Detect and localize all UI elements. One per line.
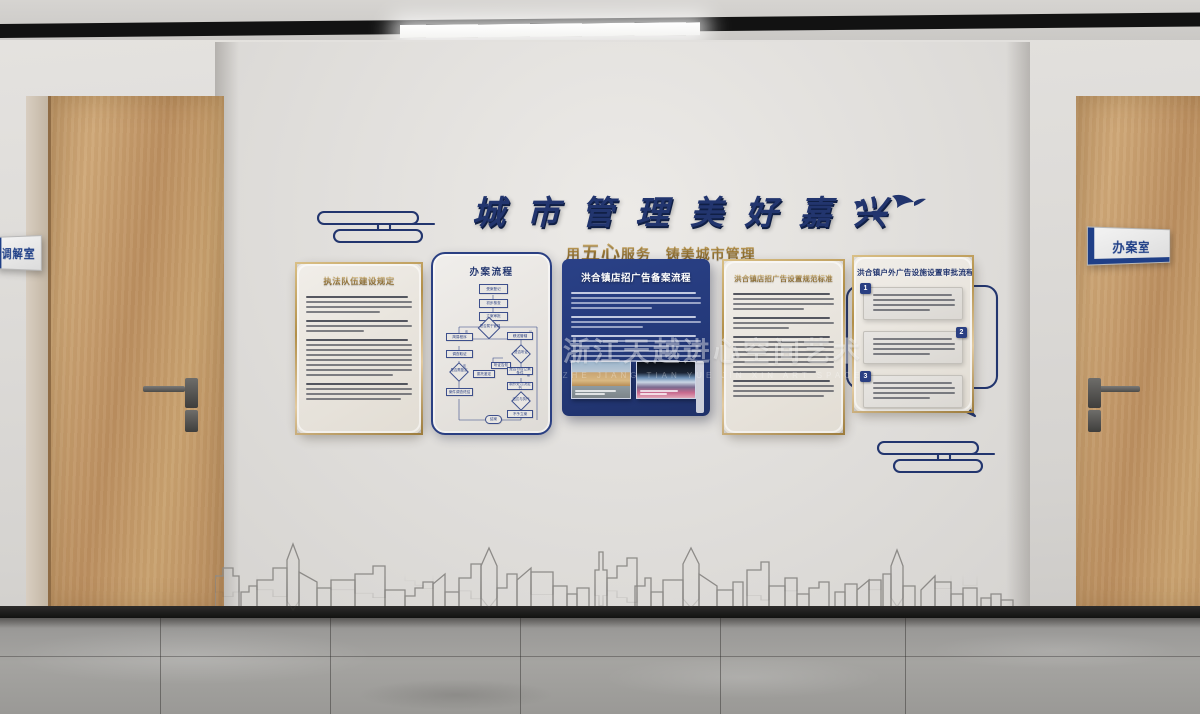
approval-item-1-number: 1 [860,283,871,294]
door-lock-plate-right[interactable] [1088,378,1101,408]
approval-item-2-card [863,331,963,364]
room-scene: 调解室 办案室 城 市 管 理 美 好 嘉 兴 用五心服务 铸美城市管理 [0,0,1200,714]
panel-ad-filing-photo-group [571,361,696,399]
panel-regulations-title: 执法队伍建设规定 [303,275,415,287]
panel-ad-standards-para-2 [733,317,834,329]
sign-accent-bar-left [0,238,1,269]
flow-label: 送达与执行 [505,398,537,401]
panel-ad-filing-para-3 [571,335,701,362]
floor-skyline-reflection [215,574,1030,618]
cloud-motif-left-icon [316,198,440,248]
panel-ad-standards-body [724,293,843,397]
wall-shadow-right [1006,42,1030,610]
flow-node-decision-doc: 制作处罚决定书 [507,382,533,390]
approval-item-3-number: 3 [860,371,871,382]
room-sign-right: 办案室 [1087,226,1170,265]
flow-label: 结案归档 [476,367,480,384]
room-sign-left: 调解室 [0,235,42,271]
panel-case-flow[interactable]: 办案流程 [431,252,552,435]
flow-node-verify: 初步核查 [479,299,508,308]
cloud-motif-right-icon [876,428,1000,478]
door-lock-plate-left[interactable] [185,378,198,408]
photo-storefront-caption [575,390,627,396]
flow-node-simple: 简易程序 [446,333,473,341]
panel-ad-filing[interactable]: 洪合镇店招广告备案流程 [562,259,710,416]
flow-node-end: 结案 [485,415,502,424]
room-sign-right-label: 办案室 [1112,236,1150,256]
flow-node-approve: 立案审批 [479,312,508,321]
panel-ad-filing-para-1 [571,292,701,309]
photo-night-street-caption [640,390,692,396]
flow-label: 结案 [490,417,497,421]
approval-item-1-card [863,287,963,320]
flow-node-conclude: 案件调查终结 [446,388,473,396]
door-jamb-left [26,96,48,610]
flow-label: 初步核查 [486,301,500,305]
panel-ad-filing-title: 洪合镇店招广告备案流程 [566,270,706,284]
panel-regulations-para-3 [306,339,412,376]
panel-ad-standards-para-1 [733,293,834,310]
flow-node-intake: 受案登记 [479,284,508,294]
flow-label: 是否符合立案条件 [508,367,532,375]
door-right[interactable] [1076,96,1200,610]
flow-node-evidence: 调查取证 [446,350,473,358]
panel-ad-filing-para-2 [571,316,701,328]
panel-ad-filing-body [562,292,710,362]
panel-ad-approval[interactable]: 洪合镇户外广告设施设置审批流程 1 2 3 [852,255,974,413]
door-handle-left[interactable] [143,386,185,392]
panel-ad-standards-title: 洪合镇店招广告设置规范标准 [729,273,838,284]
flying-birds-icon [848,190,926,241]
approval-item-3-card [863,375,963,408]
panel-regulations-para-4 [306,383,412,400]
door-keyhole-right[interactable] [1088,410,1101,432]
flow-label: 简易程序 [452,335,466,339]
flow-label: 制作处罚决定书 [508,382,532,390]
flow-node-no-filing: 不予立案 [507,410,533,418]
photo-storefront-building[interactable] [571,361,631,399]
floor [0,618,1200,714]
floor-marble-texture [0,618,1200,714]
flow-label: 受案登记 [486,287,500,291]
panel-regulations-para-2 [306,320,412,332]
panel-ad-filing-side-strip [696,361,704,413]
wall-headline: 城 市 管 理 美 好 嘉 兴 [472,186,891,234]
panel-ad-approval-title: 洪合镇户外广告设施设置审批流程 [857,267,969,278]
panel-ad-approval-items: 1 2 3 [854,287,972,408]
door-handle-right[interactable] [1098,386,1140,392]
approval-item-2: 2 [863,331,963,364]
flow-label: 是否属于管辖 [473,325,507,328]
flow-label: 是否听证 [505,351,537,354]
room-sign-left-label: 调解室 [2,244,36,262]
photo-night-street-bus[interactable] [636,361,696,399]
panel-ad-standards-para-3 [733,336,834,373]
flow-label: 案件调查终结 [449,390,471,394]
flow-label: 调查取证 [452,352,466,356]
panel-ad-standards-para-4 [733,380,834,397]
floor-wall-contact-shadow [0,618,1200,628]
panel-regulations-body [297,296,421,400]
flowchart-diagram: 否是 否是 受案登记 初步核查 立案审批 是否属于管辖 移送管辖 简易程序 调查… [433,254,550,433]
flow-node-transfer: 移送管辖 [507,332,533,340]
flow-label: 移送管辖 [513,334,527,338]
panel-regulations-para-1 [306,296,412,313]
approval-item-2-number: 2 [956,327,967,338]
panel-ad-standards[interactable]: 洪合镇店招广告设置规范标准 [722,259,845,435]
flow-node-filing-cond: 是否符合立案条件 [507,367,533,375]
door-keyhole-left[interactable] [185,410,198,432]
door-left[interactable] [48,96,224,610]
approval-item-1: 1 [863,287,963,320]
approval-item-3: 3 [863,375,963,408]
flow-label: 不予立案 [513,412,527,416]
flow-label: 案件移送 [446,373,450,390]
panel-regulations[interactable]: 执法队伍建设规定 [295,262,423,435]
